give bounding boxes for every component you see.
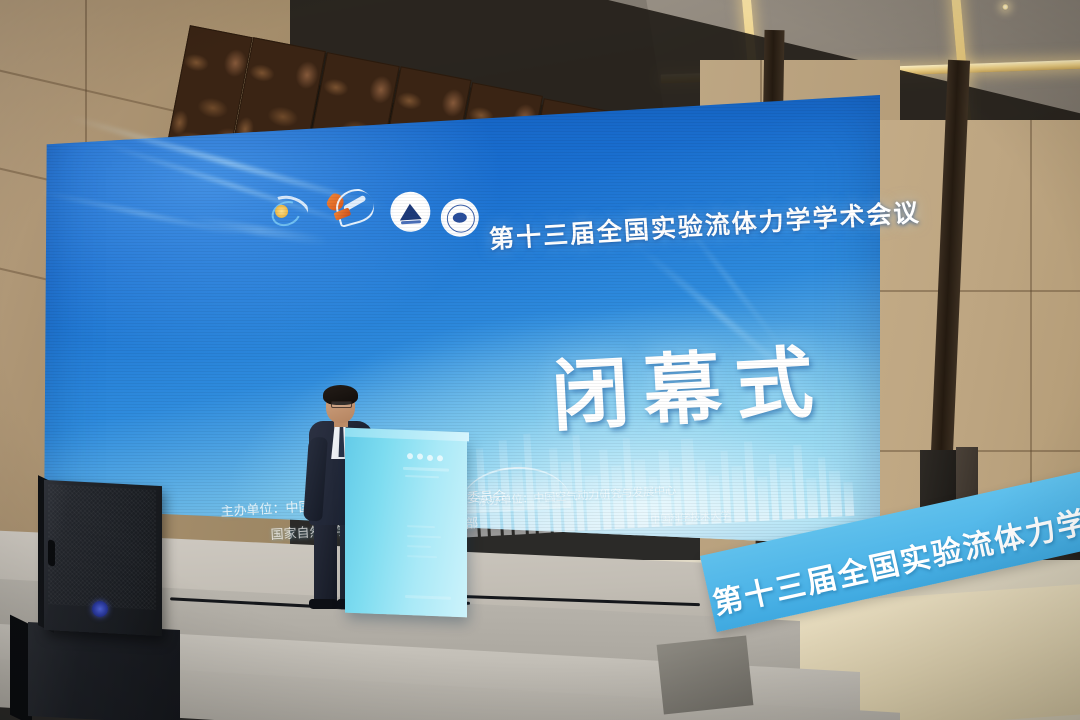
foreground-block [657,635,754,714]
pa-brand-badge-icon [92,601,108,617]
conference-photo-scene: 第十三届全国实验流体力学学术会议 闭幕式 主办单位：中国力学学会实验流体力学专业… [0,0,1080,720]
pa-speaker-grille [48,484,156,610]
subwoofer-cabinet [28,622,180,720]
pa-speaker-handle [48,539,55,567]
screen-main-title: 闭幕式 [548,320,830,447]
speaking-podium [345,433,467,618]
